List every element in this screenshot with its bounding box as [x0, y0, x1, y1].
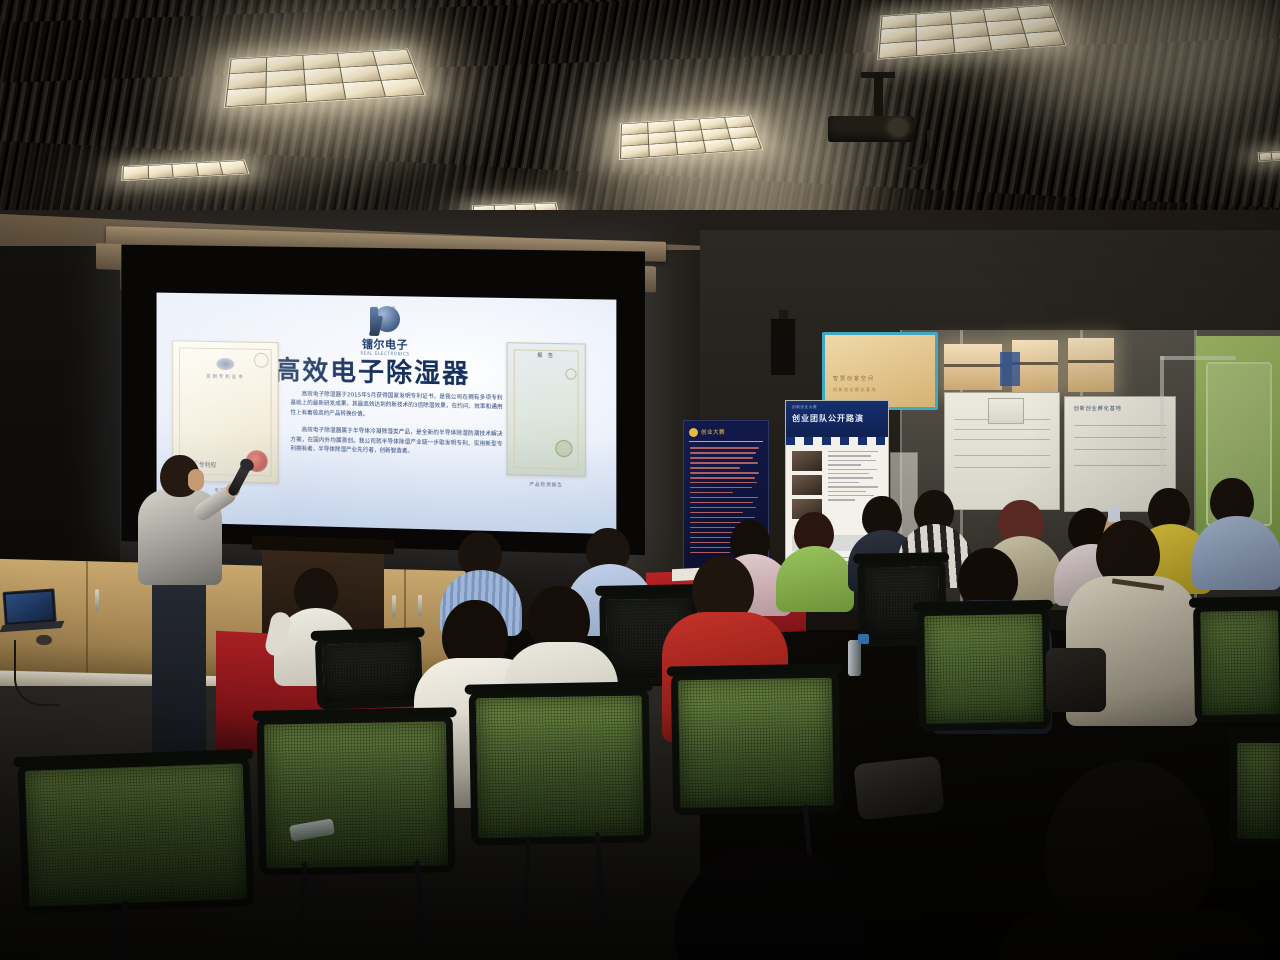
presentation-room-photo: 创新创业孵化基地 智慧创客空间 创新创业孵化基地 创业大赛 创新创业大赛 创业团…: [0, 0, 1280, 960]
woman-green-top: [780, 512, 850, 608]
window-mullion: [944, 364, 1002, 367]
head: [1044, 760, 1214, 930]
chair-front-left[interactable]: [17, 756, 254, 914]
cabinet-handle[interactable]: [95, 589, 99, 611]
certificate-stamp-circle: [254, 353, 269, 368]
presenter-laptop[interactable]: [2, 588, 61, 638]
head: [674, 846, 864, 960]
roadshow-title: 创业团队公开路演: [792, 413, 864, 424]
orange-banner-line2: 创新创业孵化基地: [833, 387, 877, 393]
company-logo-icon: ®: [368, 304, 402, 339]
right-document-caption: 产品检测报告: [507, 481, 586, 489]
floor-cable: [14, 640, 60, 706]
bag-right: [1046, 648, 1106, 712]
dark-poster-header: 创业大赛: [689, 426, 763, 439]
chair-front-mid-right[interactable]: [671, 671, 841, 816]
chair-front-mid[interactable]: [469, 688, 652, 845]
man-foreground-silhouette: [1018, 760, 1248, 960]
report-seal-icon: [555, 440, 572, 458]
roadshow-subtitle: 创新创业大赛: [792, 405, 817, 410]
chair-right-1[interactable]: [917, 607, 1051, 731]
dark-poster-title: 创业大赛: [701, 428, 725, 436]
projector-cable: [906, 130, 930, 170]
backpack-on-floor: [853, 756, 944, 821]
glass-poster-title: 创新创业孵化基地: [1074, 405, 1122, 412]
man-blue-shirt-right: [1192, 478, 1280, 586]
roadshow-thumb-2: [792, 475, 822, 495]
projector-lens: [890, 120, 906, 136]
orange-wall-banner: 智慧创客空间 创新创业孵化基地: [822, 332, 938, 410]
test-report-image: 报 告: [507, 342, 586, 477]
report-stamp-circle: [565, 368, 576, 379]
slide-paragraph-1: 高效电子除湿器于2015年5月获得国家发明专利证书，是我公司在拥有多项专利基础上…: [290, 390, 502, 423]
person-foreground-bottom: [624, 846, 904, 960]
ceiling-mounted-projector: [828, 72, 928, 182]
laptop-screen: [6, 592, 54, 623]
poster-bullet-icon: [689, 428, 698, 437]
dark-poster-rule: [689, 441, 763, 442]
chair-back-dark-1[interactable]: [315, 634, 423, 710]
slide-title: 高效电子除湿器: [275, 350, 535, 392]
registered-mark: ®: [391, 306, 396, 312]
wall-speaker: [770, 318, 796, 376]
water-bottle-2[interactable]: [848, 640, 861, 676]
roadshow-header: 创新创业大赛 创业团队公开路演: [786, 401, 888, 437]
window-left: [944, 344, 1002, 390]
ceiling-light-strip-4: [1258, 150, 1280, 161]
torso: [1002, 910, 1264, 960]
presenter-trousers: [152, 573, 206, 763]
orange-banner-line1: 智慧创客空间: [833, 375, 875, 382]
report-header-text: 报 告: [508, 351, 585, 359]
blue-sign-chip: [1000, 352, 1020, 386]
slide-paragraph-2: 高效电子除湿器属于半导体冷凝除湿类产品，是全新的半导体除湿防潮技术解决方案，在国…: [290, 426, 502, 459]
presenter-speaking: [130, 455, 260, 775]
ceiling-light-grid-1: [224, 49, 426, 108]
glass-rail-horizontal: [1160, 356, 1236, 360]
projector-pole: [874, 72, 883, 120]
ceiling-light-grid-2: [619, 115, 764, 160]
chair-front-mid-left[interactable]: [257, 714, 456, 875]
bottle-cap-icon: [858, 634, 869, 644]
certificate-emblem-icon: [216, 358, 234, 370]
small-notice-card: [988, 398, 1024, 424]
laptop-lid: [2, 588, 56, 626]
roadshow-thumb-1: [792, 451, 822, 471]
window-mullion: [1068, 360, 1114, 363]
roadshow-zigzag-divider: [786, 437, 888, 445]
torso: [1192, 516, 1280, 590]
window-right: [1068, 338, 1114, 392]
slide-body-text: 高效电子除湿器于2015年5月获得国家发明专利证书，是我公司在拥有多项专利基础上…: [290, 390, 502, 467]
presenter-face: [188, 469, 204, 491]
chair-right-2[interactable]: [1193, 603, 1280, 723]
left-dark-wall: [0, 246, 120, 586]
ceiling-band-upper: [0, 0, 1280, 85]
torso: [776, 546, 854, 612]
cabinet-handle[interactable]: [392, 595, 396, 617]
